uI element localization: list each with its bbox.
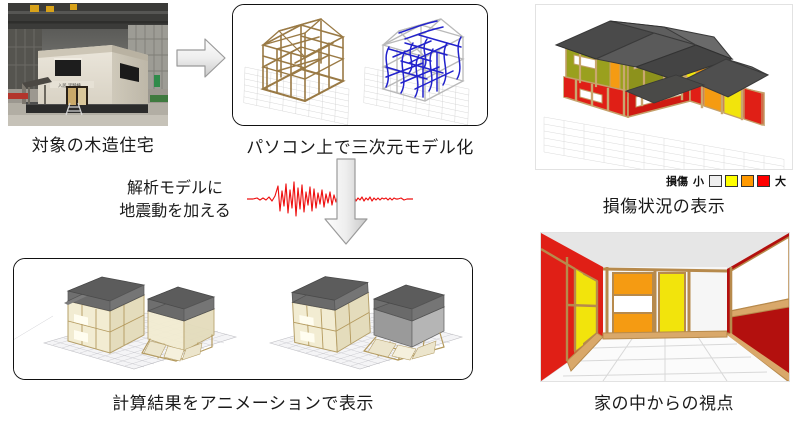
legend-swatch-3 xyxy=(741,175,754,187)
damage-view-panel xyxy=(535,4,793,170)
damage-caption: 損傷状況の表示 xyxy=(535,192,793,217)
legend-max-label: 大 xyxy=(775,173,786,189)
photo-svg: 入居 実験棟 xyxy=(8,3,168,126)
arrow-down-icon xyxy=(322,157,370,247)
model-caption: パソコン上で三次元モデル化 xyxy=(232,133,488,158)
legend-swatch-1 xyxy=(709,175,722,187)
input-motion-caption-line1: 解析モデルに xyxy=(95,177,255,200)
damage-legend: 損傷 小 大 xyxy=(666,173,786,189)
photo-caption: 対象の木造住宅 xyxy=(8,131,178,156)
input-motion-caption-line2: 地震動を加える xyxy=(95,200,255,223)
legend-min-label: 小 xyxy=(693,173,704,189)
input-motion-caption: 解析モデルに 地震動を加える xyxy=(95,177,255,223)
legend-title: 損傷 xyxy=(666,173,688,189)
legend-swatch-4 xyxy=(757,175,770,187)
damage-view-svg xyxy=(536,5,792,169)
animation-caption: 計算結果をアニメーションで表示 xyxy=(13,389,473,414)
interior-view-panel xyxy=(540,232,790,382)
target-house-photo: 入居 実験棟 xyxy=(8,3,168,126)
arrow-right-icon xyxy=(175,36,227,80)
model-panel-svg xyxy=(233,5,487,125)
interior-view-svg xyxy=(541,233,789,381)
animation-panel xyxy=(13,258,473,380)
legend-swatch-2 xyxy=(725,175,738,187)
three-d-model-panel xyxy=(232,4,488,126)
animation-panel-svg xyxy=(14,259,472,379)
interior-caption: 家の中からの視点 xyxy=(535,389,793,414)
